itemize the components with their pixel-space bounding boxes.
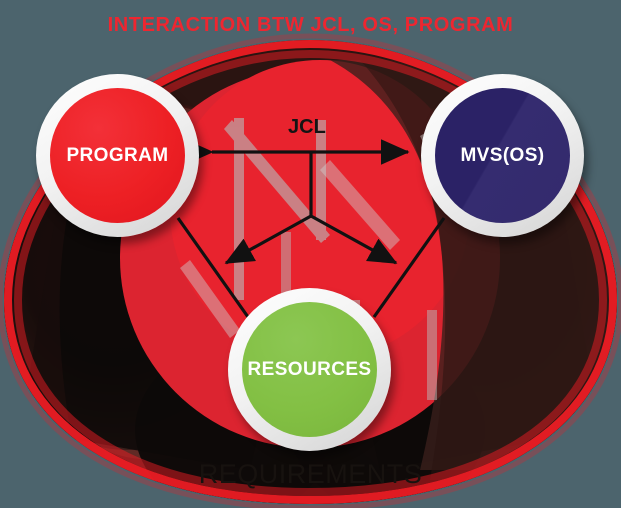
connector-program-to-resources (178, 218, 248, 317)
caption-requirements: REQUIREMENTS (0, 459, 621, 490)
node-mvsos-label: MVS(OS) (460, 145, 544, 167)
diagram-canvas: INTERACTION BTW JCL, OS, PROGRAM PROGRAM… (0, 0, 621, 508)
connector-junction-to-program (226, 216, 311, 263)
connector-mvsos-to-resources (374, 218, 444, 317)
node-mvsos[interactable]: MVS(OS) (421, 74, 584, 237)
connector-label-jcl: JCL (288, 116, 326, 139)
page-title: INTERACTION BTW JCL, OS, PROGRAM (0, 14, 621, 37)
connector-junction-to-mvsos (311, 216, 396, 263)
node-resources[interactable]: RESOURCES (228, 288, 391, 451)
artboard: INTERACTION BTW JCL, OS, PROGRAM PROGRAM… (0, 0, 621, 508)
node-resources-label: RESOURCES (248, 359, 372, 381)
node-program[interactable]: PROGRAM (36, 74, 199, 237)
node-program-label: PROGRAM (66, 145, 168, 167)
